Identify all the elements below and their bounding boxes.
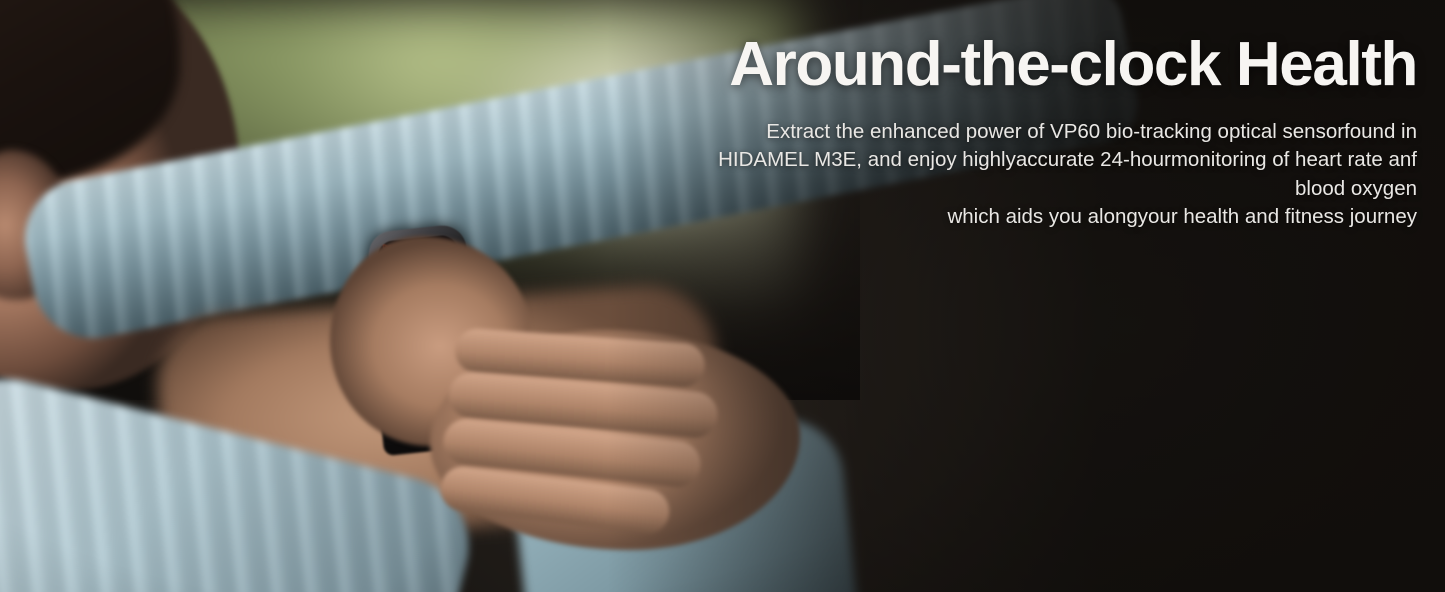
hero-copy: Around-the-clock Health Extract the enha… (717, 34, 1417, 231)
hero-subcopy-line: which aids you alongyour health and fitn… (717, 203, 1417, 231)
promo-banner: Dynamic Max. 102Min. 66 102 BPM 60BPM, 1… (0, 0, 1445, 592)
hero-subcopy: Extract the enhanced power of VP60 bio-t… (717, 118, 1417, 231)
hero-subcopy-line: HIDAMEL M3E, and enjoy highlyaccurate 24… (717, 146, 1417, 203)
page-title: Around-the-clock Health (717, 34, 1417, 96)
hero-subcopy-line: Extract the enhanced power of VP60 bio-t… (717, 118, 1417, 146)
